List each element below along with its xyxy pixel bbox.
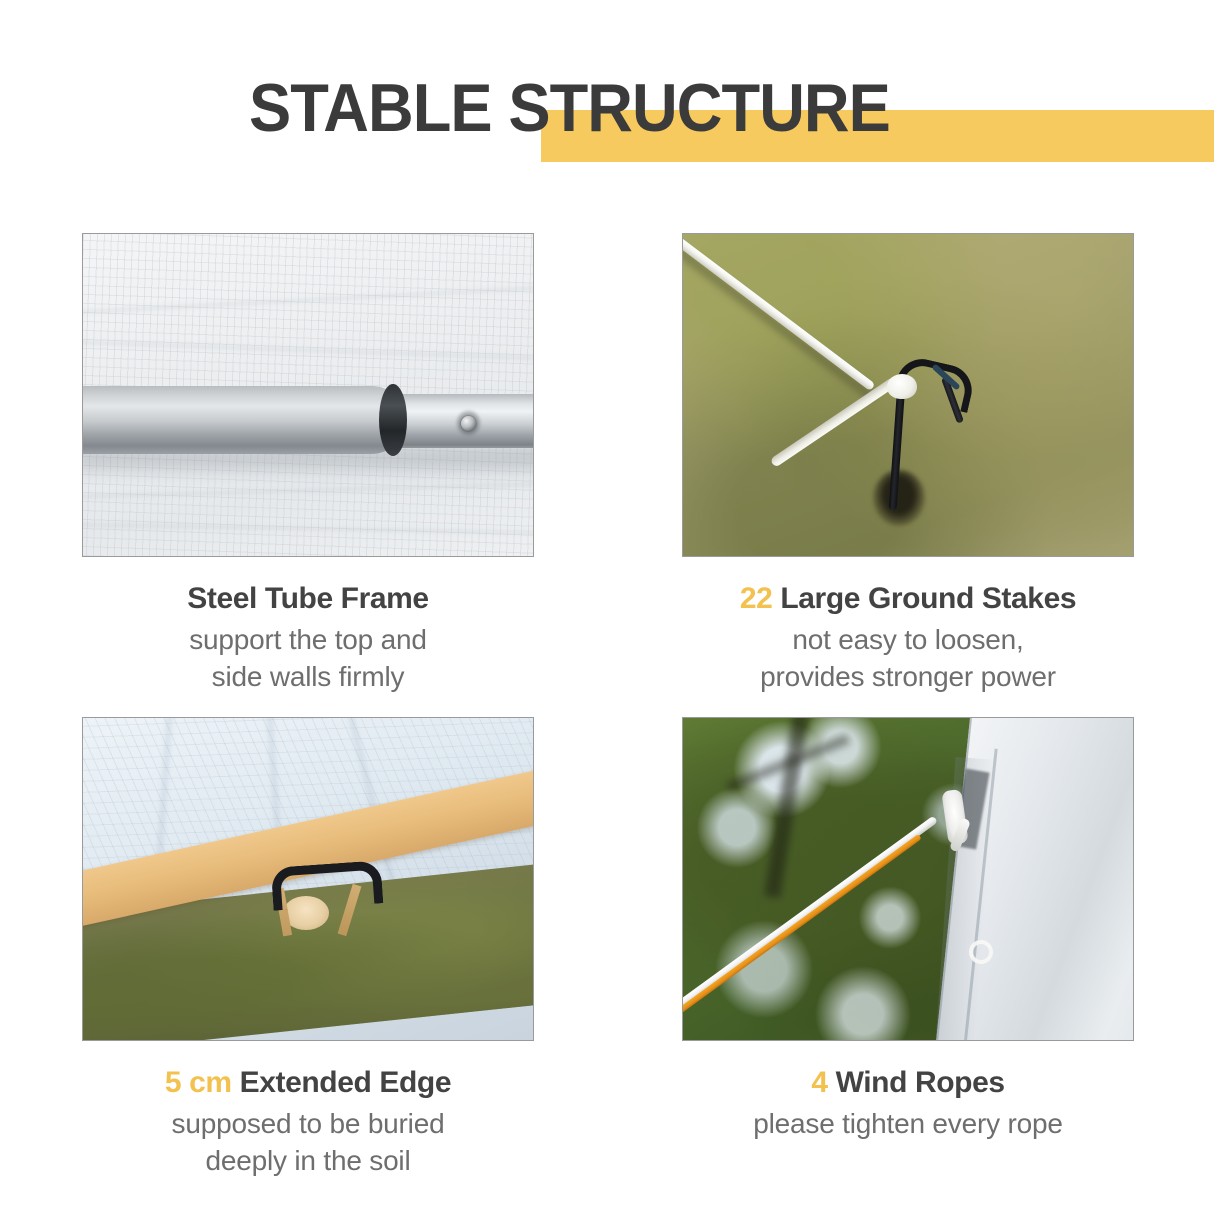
feature-title: 4 Wind Ropes — [682, 1065, 1134, 1101]
feature-description-line2: deeply in the soil — [82, 1142, 534, 1179]
feature-description-line2: provides stronger power — [682, 658, 1134, 695]
tent-rope-upper — [682, 236, 875, 391]
feature-number: 5 cm — [165, 1066, 232, 1099]
d-ring-stake — [271, 860, 384, 911]
wind-rope-on-canopy-photo — [682, 717, 1134, 1041]
feature-description: please tighten every rope — [682, 1105, 1134, 1142]
feature-description: not easy to loosen, provides stronger po… — [682, 621, 1134, 695]
feature-title: 5 cm Extended Edge — [82, 1065, 534, 1101]
feature-description-line1: support the top and — [189, 624, 427, 655]
feature-card-steel-tube-frame: Steel Tube Frame support the top and sid… — [82, 233, 534, 695]
feature-grid: Steel Tube Frame support the top and sid… — [0, 0, 1214, 1214]
rope-knot — [887, 374, 917, 399]
feature-caption: Steel Tube Frame support the top and sid… — [82, 581, 534, 695]
feature-number: 4 — [811, 1066, 827, 1099]
feature-title-text: Extended Edge — [240, 1066, 452, 1099]
feature-card-extended-edge: 5 cm Extended Edge supposed to be buried… — [82, 717, 534, 1179]
fabric-fold — [82, 268, 534, 317]
feature-title: Steel Tube Frame — [82, 581, 534, 617]
feature-card-large-ground-stakes: 22 Large Ground Stakes not easy to loose… — [682, 233, 1134, 695]
feature-number: 22 — [740, 582, 773, 615]
tent-rope-lower — [770, 377, 898, 468]
feature-description: supposed to be buried deeply in the soil — [82, 1105, 534, 1179]
fabric-fold — [82, 522, 534, 540]
fabric-fold — [82, 338, 534, 371]
feature-caption: 4 Wind Ropes please tighten every rope — [682, 1065, 1134, 1142]
tree-trunk — [764, 717, 810, 898]
steel-tube-frame-photo — [82, 233, 534, 557]
feature-card-wind-ropes: 4 Wind Ropes please tighten every rope — [682, 717, 1134, 1142]
feature-description: support the top and side walls firmly — [82, 621, 534, 695]
feature-title: 22 Large Ground Stakes — [682, 581, 1134, 617]
feature-title-text: Wind Ropes — [836, 1066, 1005, 1099]
fabric-fold — [82, 474, 534, 500]
tube-joint-collar — [379, 384, 407, 456]
feature-caption: 22 Large Ground Stakes not easy to loose… — [682, 581, 1134, 695]
feature-description-line2: side walls firmly — [82, 658, 534, 695]
feature-description-line1: not easy to loosen, — [792, 624, 1023, 655]
feature-description-line1: supposed to be buried — [172, 1108, 445, 1139]
wind-rope-orange-strand — [682, 834, 922, 1021]
canopy-rope-loop — [969, 940, 993, 964]
soil-hole-shadow — [873, 470, 925, 526]
tube-spring-button — [461, 416, 476, 431]
feature-description-line1: please tighten every rope — [753, 1108, 1062, 1139]
feature-title-text: Large Ground Stakes — [780, 582, 1076, 615]
steel-tube-large-section — [82, 386, 407, 454]
ground-stake-in-grass-photo — [682, 233, 1134, 557]
tarp-extended-edge-photo — [82, 717, 534, 1041]
feature-caption: 5 cm Extended Edge supposed to be buried… — [82, 1065, 534, 1179]
feature-title-text: Steel Tube Frame — [187, 582, 428, 615]
